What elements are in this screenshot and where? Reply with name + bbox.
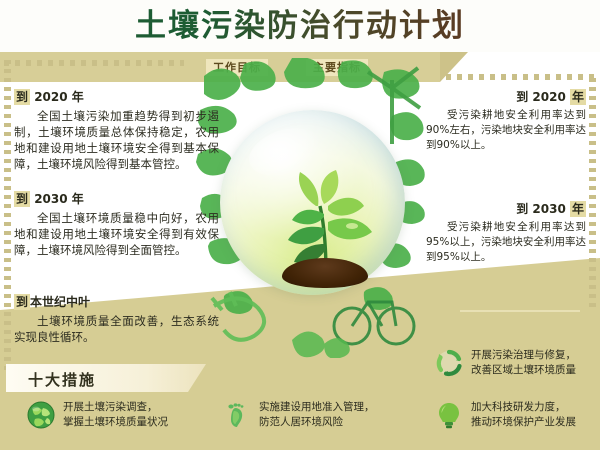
- measure-text-access-control: 实施建设用地准入管理， 防范人居环境风险: [259, 400, 375, 430]
- measure-text-remediation: 开展污染治理与修复， 改善区域土壤环境质量: [471, 348, 576, 378]
- dashed-border-top-right: [446, 74, 596, 80]
- lightbulb-icon: [434, 400, 464, 430]
- goal-year-2020: 2020: [34, 90, 67, 104]
- goal-body-midcentury: 土壤环境质量全面改善，生态系统实现良性循环。: [14, 313, 219, 345]
- indicator-body-2020: 受污染耕地安全利用率达到90%左右，污染地块安全利用率达到90%以上。: [426, 108, 586, 153]
- goal-suffix-2020: 年: [72, 90, 84, 104]
- measure-item-survey[interactable]: 开展土壤污染调查， 掌握土壤环境质量状况: [26, 400, 168, 430]
- globe-icon: [26, 400, 56, 430]
- infographic-page: 土壤污染防治行动计划 工作目标 主要指标: [0, 0, 600, 450]
- indicator-prefix-2020: 到: [516, 90, 528, 104]
- goal-block-2020: 到 2020 年 全国土壤污染加重趋势得到初步遏制，土壤环境质量总体保持稳定，农…: [14, 88, 219, 172]
- measure-item-remediation[interactable]: 开展污染治理与修复， 改善区域土壤环境质量: [434, 348, 576, 378]
- indicator-block-2030: 到 2030 年 受污染耕地安全利用率达到95%以上，污染地块安全利用率达到95…: [426, 200, 586, 265]
- indicator-heading-2030: 到 2030 年: [426, 200, 586, 217]
- indicator-block-2020: 到 2020 年 受污染耕地安全利用率达到90%左右，污染地块安全利用率达到90…: [426, 88, 586, 153]
- measure-text-survey: 开展土壤污染调查， 掌握土壤环境质量状况: [63, 400, 168, 430]
- indicator-suffix-2030: 年: [570, 201, 586, 217]
- indicator-prefix-2030: 到: [516, 202, 528, 216]
- goal-year-midcentury: 本世纪中叶: [30, 295, 90, 309]
- goal-block-midcentury: 到本世纪中叶 土壤环境质量全面改善，生态系统实现良性循环。: [14, 293, 219, 345]
- goal-prefix-2030: 到: [14, 191, 30, 207]
- measure-text-technology: 加大科技研发力度， 推动环境保护产业发展: [471, 400, 576, 430]
- measure-item-technology[interactable]: 加大科技研发力度， 推动环境保护产业发展: [434, 400, 576, 430]
- dashed-border-top-left: [4, 60, 184, 66]
- indicator-year-2020: 2020: [532, 90, 565, 104]
- measures-banner: 十大措施: [6, 364, 206, 392]
- recycle-icon: [434, 348, 464, 378]
- goal-heading-2030: 到 2030 年: [14, 190, 219, 207]
- central-illustration: [196, 58, 426, 358]
- goal-year-2030: 2030: [34, 192, 67, 206]
- dashed-border-left: [4, 60, 11, 370]
- measure-item-access-control[interactable]: 实施建设用地准入管理， 防范人居环境风险: [222, 400, 375, 430]
- indicator-heading-2020: 到 2020 年: [426, 88, 586, 105]
- indicator-body-2030: 受污染耕地安全利用率达到95%以上，污染地块安全利用率达到95%以上。: [426, 220, 586, 265]
- goal-suffix-2030: 年: [72, 192, 84, 206]
- goal-prefix-midcentury: 到: [14, 294, 30, 310]
- goal-heading-2020: 到 2020 年: [14, 88, 219, 105]
- indicator-year-2030: 2030: [532, 202, 565, 216]
- goal-heading-midcentury: 到本世纪中叶: [14, 293, 219, 310]
- goal-body-2020: 全国土壤污染加重趋势得到初步遏制，土壤环境质量总体保持稳定，农用地和建设用地土壤…: [14, 108, 219, 172]
- goal-body-2030: 全国土壤环境质量稳中向好，农用地和建设用地土壤环境安全得到有效保障，土壤环境风险…: [14, 210, 219, 258]
- section-divider: [460, 310, 580, 312]
- indicator-suffix-2020: 年: [570, 89, 586, 105]
- page-title: 土壤污染防治行动计划: [0, 6, 600, 46]
- goal-block-2030: 到 2030 年 全国土壤环境质量稳中向好，农用地和建设用地土壤环境安全得到有效…: [14, 190, 219, 258]
- footprint-icon: [222, 400, 252, 430]
- dashed-border-right: [589, 78, 596, 308]
- soil-mound: [282, 258, 368, 288]
- goal-prefix-2020: 到: [14, 89, 30, 105]
- measures-banner-label: 十大措施: [6, 364, 206, 390]
